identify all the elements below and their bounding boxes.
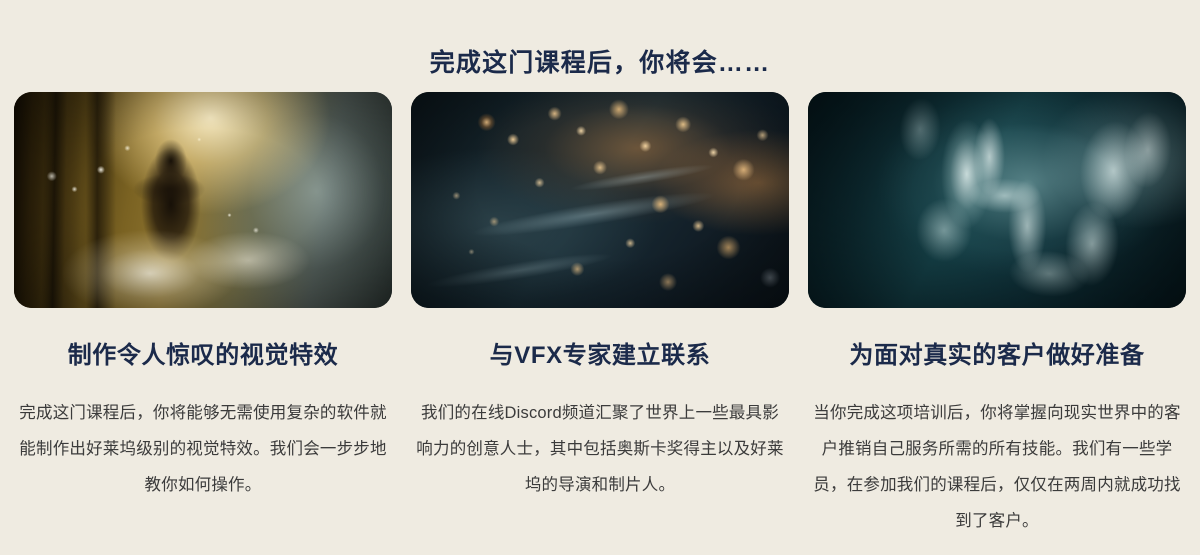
benefit-card-2: 与VFX专家建立联系 我们的在线Discord频道汇聚了世界上一些最具影响力的创… — [411, 92, 789, 519]
image-vignette-layer — [14, 92, 392, 308]
section-heading: 完成这门课程后，你将会…… — [0, 48, 1200, 79]
benefit-card-1: 制作令人惊叹的视觉特效 完成这门课程后，你将能够无需使用复杂的软件就能制作出好莱… — [14, 92, 392, 519]
benefit-card-title-1: 制作令人惊叹的视觉特效 — [68, 342, 339, 371]
benefit-card-title-2: 与VFX专家建立联系 — [490, 342, 711, 371]
benefit-card-title-3: 为面对真实的客户做好准备 — [849, 342, 1144, 371]
benefit-image-1 — [14, 92, 392, 308]
benefit-card-body-3: 当你完成这项培训后，你将掌握向现实世界中的客户推销自己服务所需的所有技能。我们有… — [813, 395, 1181, 539]
benefits-section: 完成这门课程后，你将会…… 制作令人惊叹的视觉特效 完成这门课程后，你将能够无需… — [0, 0, 1200, 555]
benefit-card-body-2: 我们的在线Discord频道汇聚了世界上一些最具影响力的创意人士，其中包括奥斯卡… — [416, 395, 784, 503]
benefit-cards-row: 制作令人惊叹的视觉特效 完成这门课程后，你将能够无需使用复杂的软件就能制作出好莱… — [14, 92, 1186, 555]
benefit-card-3: 为面对真实的客户做好准备 当你完成这项培训后，你将掌握向现实世界中的客户推销自己… — [808, 92, 1186, 555]
image-vignette-layer — [808, 92, 1186, 308]
benefit-image-3 — [808, 92, 1186, 308]
image-vignette-layer — [411, 92, 789, 308]
benefit-image-2 — [411, 92, 789, 308]
benefit-card-body-1: 完成这门课程后，你将能够无需使用复杂的软件就能制作出好莱坞级别的视觉特效。我们会… — [19, 395, 387, 503]
